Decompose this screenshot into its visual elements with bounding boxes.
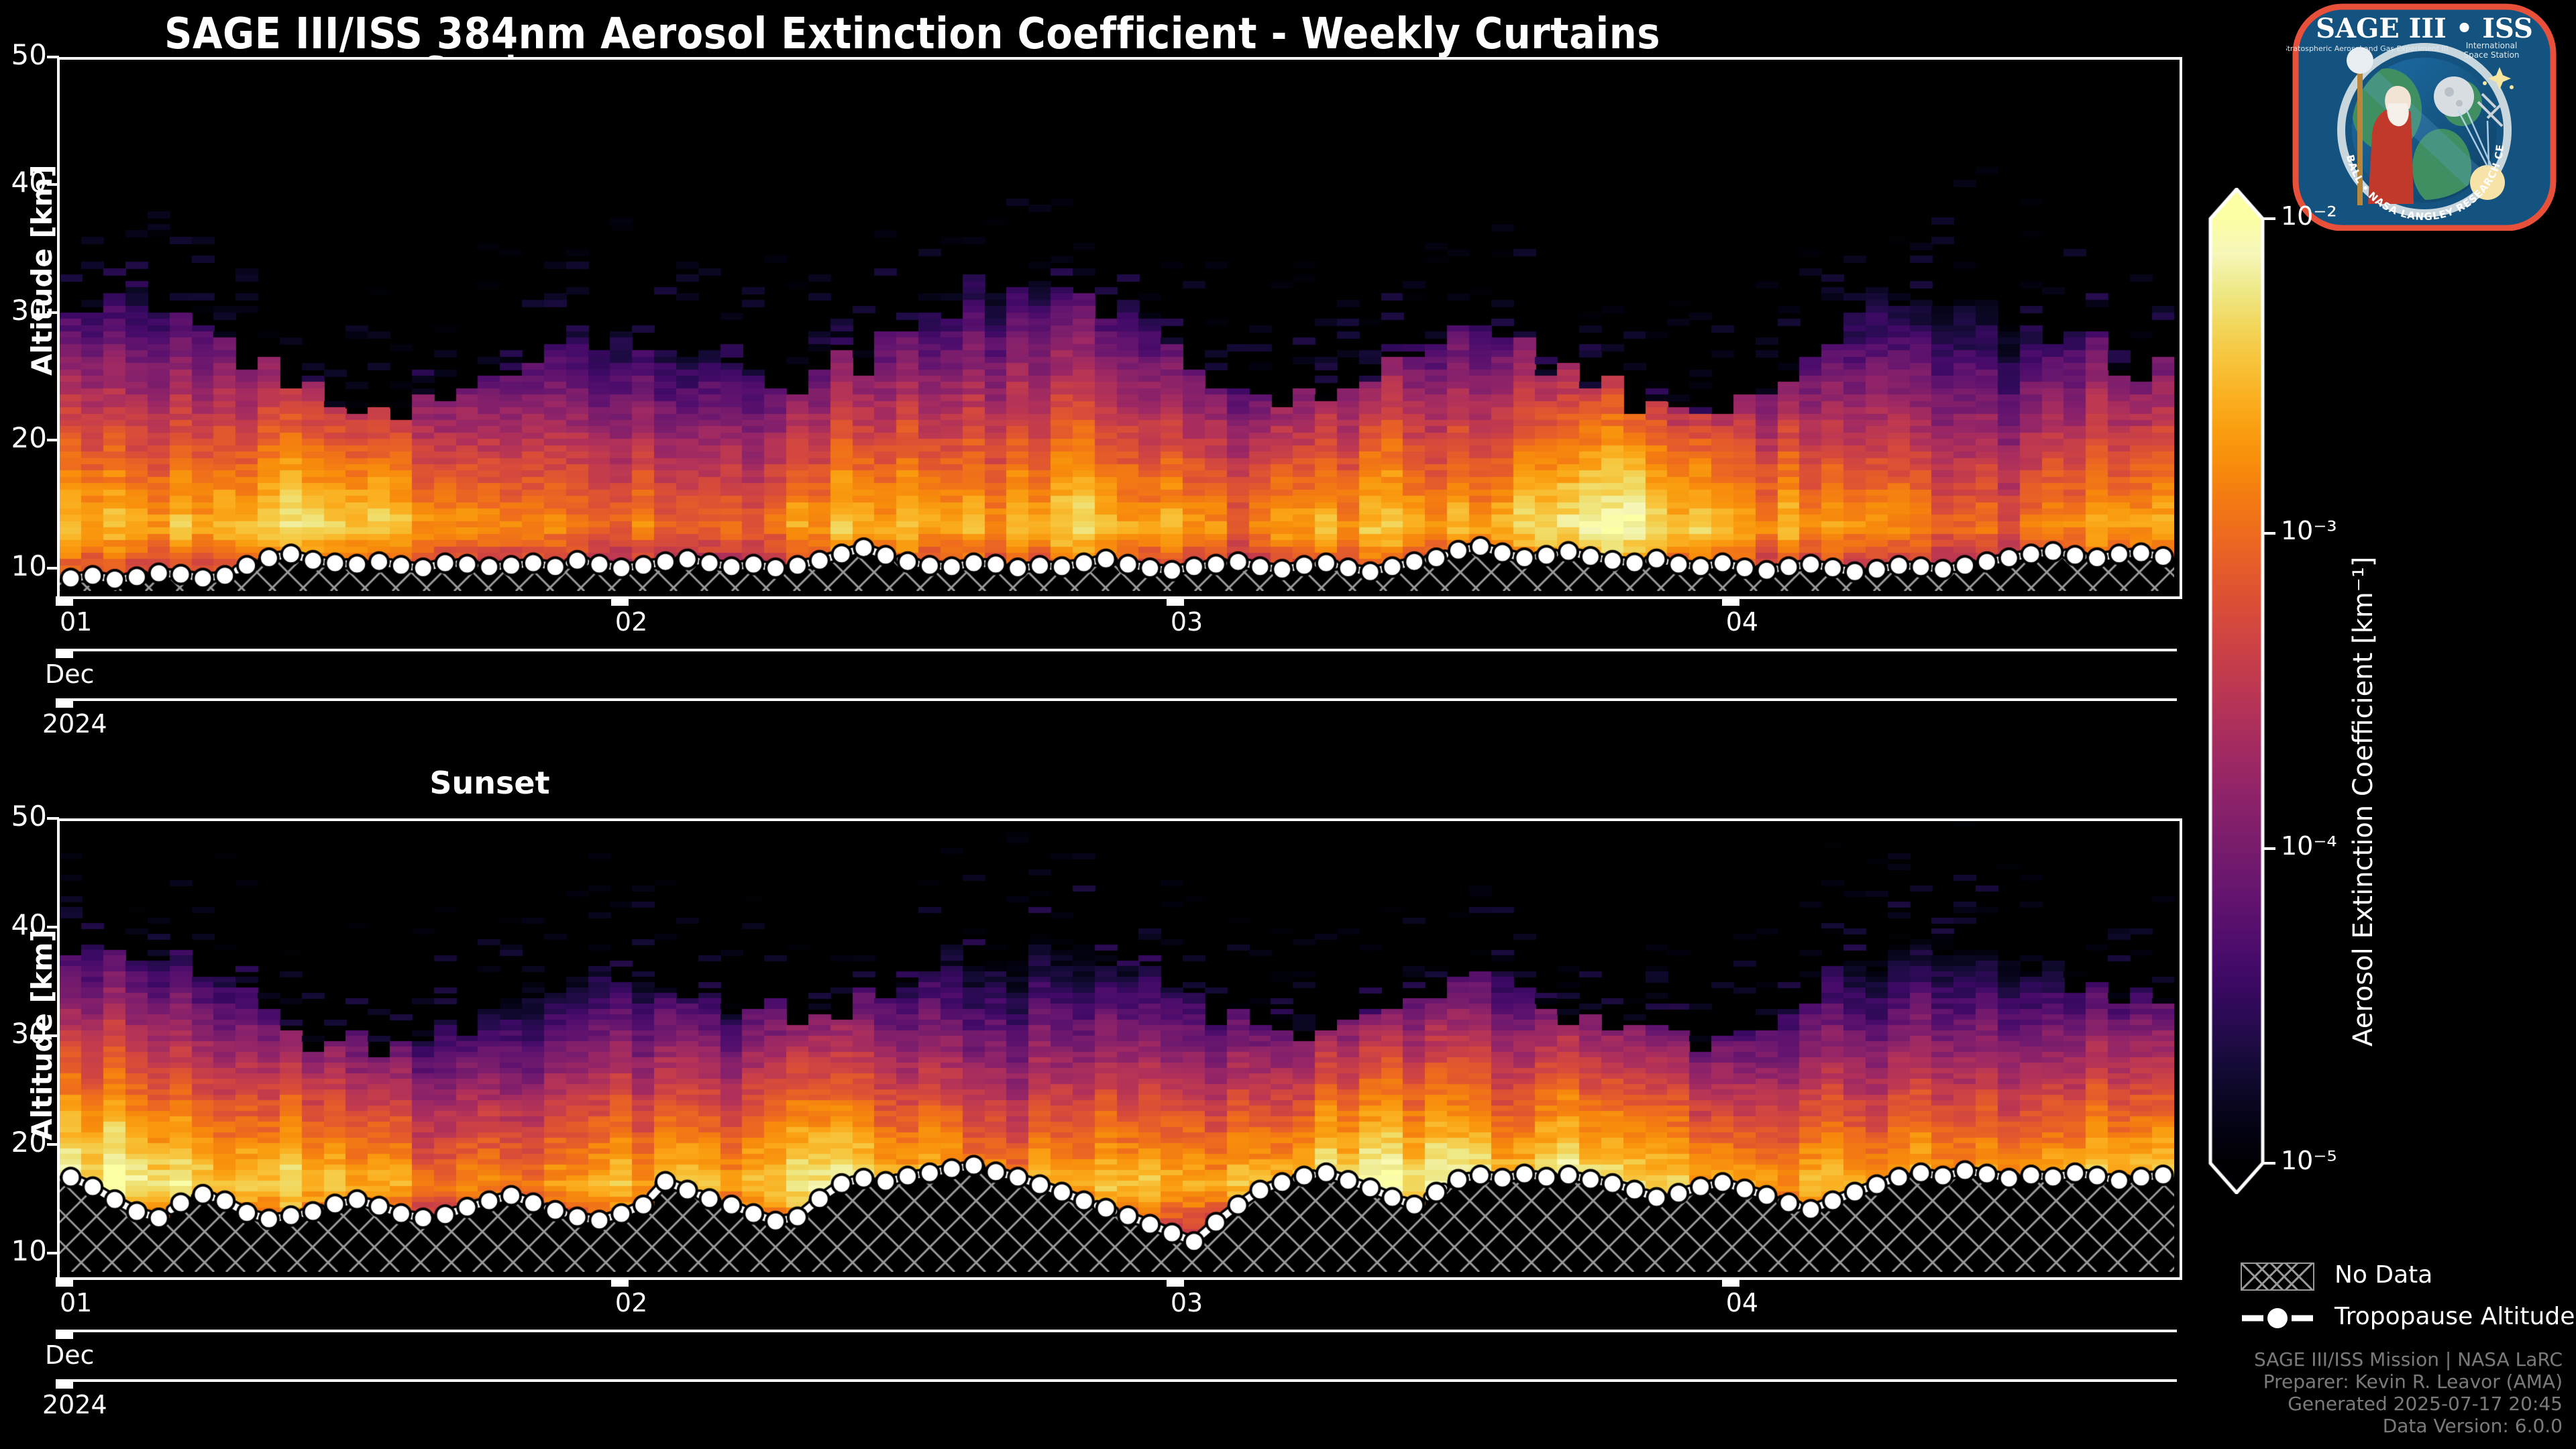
sage-iii-iss-mission-patch: SAGE III • ISS Stratospheric Aerosol and… bbox=[2286, 3, 2563, 231]
footer-line: Generated 2025-07-17 20:45 bbox=[1905, 1393, 2563, 1415]
x-axis-year-rule bbox=[57, 698, 2177, 701]
y-axis-label-sunrise: Altitude [km] bbox=[25, 164, 58, 376]
x-axis-year-stub bbox=[56, 1379, 73, 1389]
panel-sunset: Sunset bbox=[0, 765, 2214, 818]
mission-patch-svg: SAGE III • ISS Stratospheric Aerosol and… bbox=[2286, 3, 2563, 231]
colorbar-label: Aerosol Extinction Coefficient [km⁻¹] bbox=[2348, 556, 2379, 1046]
plot-area-sunrise[interactable] bbox=[57, 57, 2182, 599]
patch-subtitle-right-1: International bbox=[2466, 41, 2518, 50]
curtain-canvas-sunset bbox=[60, 821, 2174, 1272]
y-tick-label: 10 bbox=[0, 1234, 47, 1267]
colorbar[interactable] bbox=[2207, 188, 2274, 1194]
x-axis-month-stub bbox=[56, 1330, 73, 1339]
footer-credits: SAGE III/ISS Mission | NASA LaRCPreparer… bbox=[1905, 1348, 2563, 1437]
footer-line: Preparer: Kevin R. Leavor (AMA) bbox=[1905, 1371, 2563, 1393]
x-tick-label-week: 04 bbox=[1726, 607, 1758, 637]
patch-title: SAGE III • ISS bbox=[2316, 13, 2533, 44]
x-axis-month-rule bbox=[57, 1330, 2177, 1332]
figure-root: SAGE III/ISS 384nm Aerosol Extinction Co… bbox=[0, 0, 2576, 1449]
x-tick-label-week: 03 bbox=[1171, 607, 1203, 637]
x-axis-month-label: Dec bbox=[45, 659, 95, 689]
x-tick-label-week: 01 bbox=[60, 1288, 92, 1318]
plot-area-sunset[interactable] bbox=[57, 818, 2182, 1280]
x-tick-label-week: 03 bbox=[1171, 1288, 1203, 1318]
dashed-line-marker-icon bbox=[2241, 1304, 2314, 1332]
legend-label-no-data: No Data bbox=[2334, 1261, 2432, 1289]
x-axis-month-label: Dec bbox=[45, 1340, 95, 1370]
curtain-canvas-sunrise bbox=[60, 60, 2174, 591]
legend-label-tropopause: Tropopause Altitude bbox=[2334, 1303, 2575, 1330]
x-axis-month-rule bbox=[57, 649, 2177, 651]
footer-line: SAGE III/ISS Mission | NASA LaRC bbox=[1905, 1348, 2563, 1371]
colorbar-tick-label: 10⁻³ bbox=[2281, 516, 2337, 545]
colorbar-tick-label: 10⁻⁴ bbox=[2281, 831, 2337, 861]
panel-title-sunset: Sunset bbox=[0, 765, 979, 801]
x-tick-label-week: 04 bbox=[1726, 1288, 1758, 1318]
x-axis-month-stub bbox=[56, 649, 73, 658]
x-tick-label-week: 02 bbox=[615, 607, 647, 637]
x-tick-label-week: 02 bbox=[615, 1288, 647, 1318]
x-axis-year-label: 2024 bbox=[42, 709, 107, 739]
hatch-icon bbox=[2241, 1263, 2314, 1291]
y-tick-label: 20 bbox=[0, 421, 47, 454]
patch-subtitle-right-2: Space Station bbox=[2463, 50, 2519, 60]
y-tick-label: 10 bbox=[0, 549, 47, 582]
x-axis-year-rule bbox=[57, 1379, 2177, 1382]
legend-item-tropopause: Tropopause Altitude bbox=[2241, 1303, 2563, 1335]
y-axis-label-sunset: Altitude [km] bbox=[25, 929, 58, 1140]
colorbar-gradient bbox=[2207, 188, 2274, 1194]
x-axis-year-stub bbox=[56, 698, 73, 708]
footer-line: Data Version: 6.0.0 bbox=[1905, 1415, 2563, 1437]
x-axis-year-label: 2024 bbox=[42, 1390, 107, 1419]
legend-item-no-data: No Data bbox=[2241, 1261, 2563, 1293]
colorbar-tick-label: 10⁻⁵ bbox=[2281, 1146, 2337, 1175]
patch-subtitle-left: Stratospheric Aerosol and Gas Experiment… bbox=[2286, 44, 2448, 53]
legend: No Data Tropopause Altitude bbox=[2241, 1261, 2563, 1342]
x-tick-label-week: 01 bbox=[60, 607, 92, 637]
